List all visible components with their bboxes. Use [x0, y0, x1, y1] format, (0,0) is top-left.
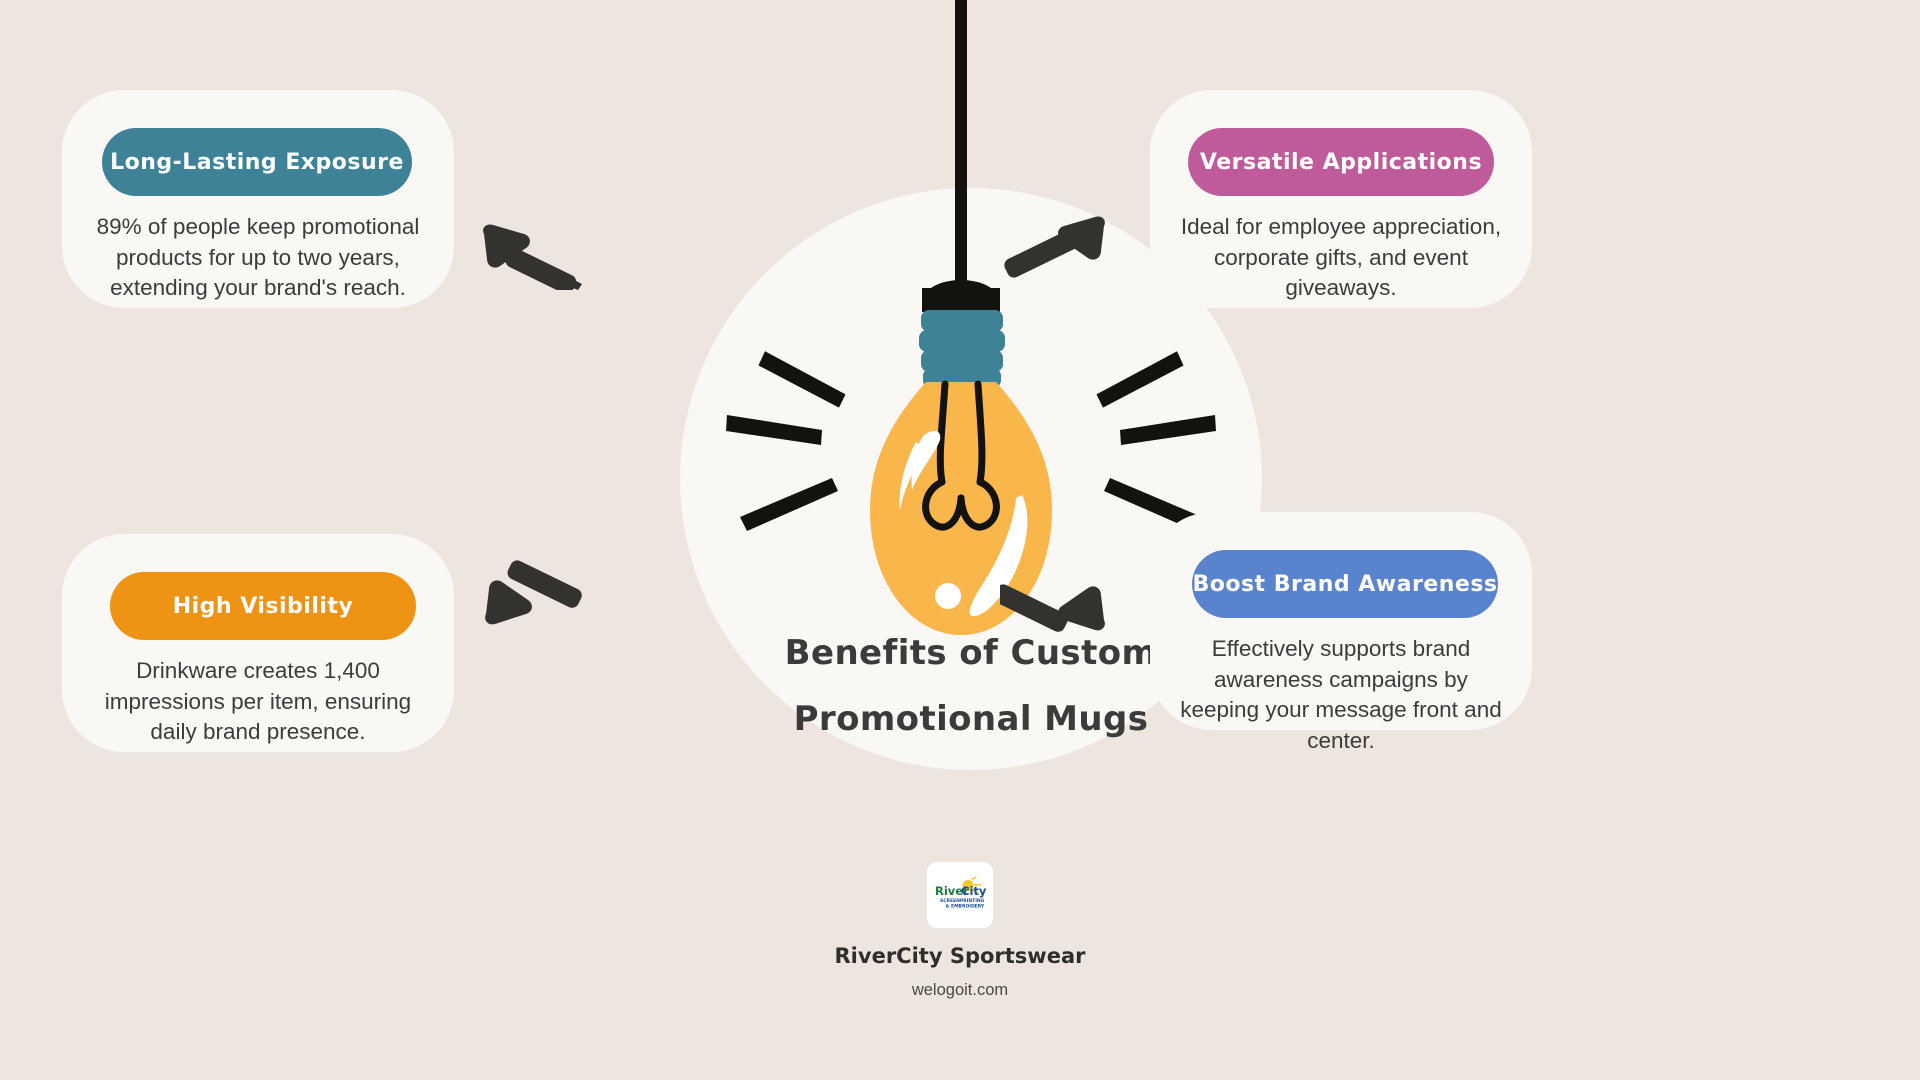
- card-label-high-visibility: High Visibility: [110, 572, 416, 640]
- logo-tile: River City SCREENPRINTING & EMBROIDERY: [927, 862, 993, 928]
- brand-name: RiverCity Sportswear: [835, 944, 1086, 968]
- brand-url: welogoit.com: [912, 981, 1008, 1000]
- bulb-cord: [955, 0, 967, 298]
- card-versatile-applications[interactable]: Versatile Applications Ideal for employe…: [1150, 90, 1532, 308]
- card-body-versatile-applications: Ideal for employee appreciation, corpora…: [1150, 212, 1532, 304]
- rivercity-logo-icon: River City SCREENPRINTING & EMBROIDERY: [932, 877, 988, 913]
- card-label-long-lasting-exposure: Long-Lasting Exposure: [102, 128, 412, 196]
- infographic-canvas: Benefits of Custom Promotional Mugs Long…: [0, 0, 1920, 1080]
- card-long-lasting-exposure[interactable]: Long-Lasting Exposure 89% of people keep…: [62, 90, 454, 308]
- svg-text:City: City: [961, 884, 987, 898]
- svg-text:SCREENPRINTING: SCREENPRINTING: [940, 898, 985, 904]
- arrow-to-bottom-left: [478, 556, 590, 628]
- bulb-rays-right: [1096, 348, 1216, 531]
- arrow-to-bottom-right: [1000, 562, 1112, 634]
- arrow-up-left-icon: [478, 222, 588, 290]
- svg-text:& EMBROIDERY: & EMBROIDERY: [946, 904, 985, 910]
- bulb-rays-left: [726, 348, 846, 531]
- bulb-base: [919, 310, 1005, 388]
- arrow-up-right-icon: [1000, 214, 1110, 286]
- card-body-boost-brand-awareness: Effectively supports brand awareness cam…: [1150, 634, 1532, 756]
- arrow-down-left-icon: [478, 556, 590, 628]
- arrow-down-right-icon: [1000, 562, 1112, 634]
- card-label-boost-brand-awareness: Boost Brand Awareness: [1192, 550, 1498, 618]
- arrow-to-top-right: [1000, 214, 1110, 286]
- card-body-high-visibility: Drinkware creates 1,400 impressions per …: [62, 656, 454, 748]
- card-high-visibility[interactable]: High Visibility Drinkware creates 1,400 …: [62, 534, 454, 752]
- footer-branding: River City SCREENPRINTING & EMBROIDERY R…: [0, 862, 1920, 1000]
- card-boost-brand-awareness[interactable]: Boost Brand Awareness Effectively suppor…: [1150, 512, 1532, 730]
- card-label-versatile-applications: Versatile Applications: [1188, 128, 1494, 196]
- arrow-to-top-left: [478, 222, 588, 290]
- card-body-long-lasting-exposure: 89% of people keep promotional products …: [62, 212, 454, 304]
